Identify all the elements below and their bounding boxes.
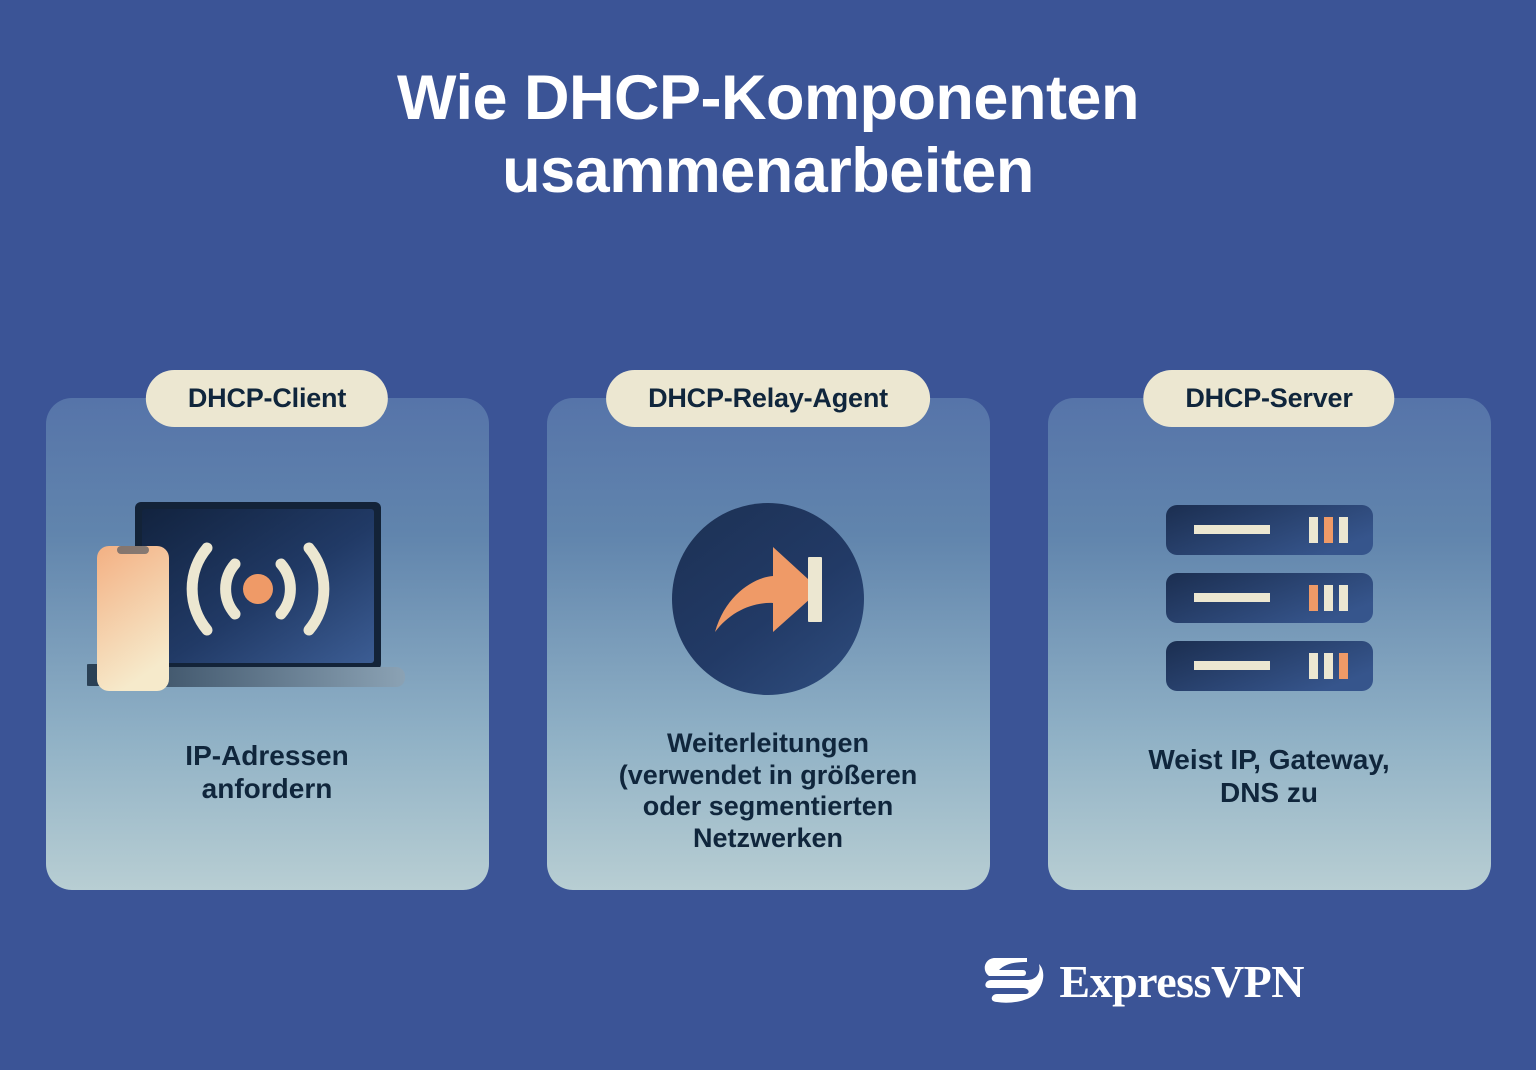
expressvpn-logo: ExpressVPN [983,954,1304,1008]
card-caption-dhcp-relay-agent: Weiterleitungen (verwendet in größeren o… [601,728,936,854]
card-dhcp-server: DHCP-Server [1048,398,1491,890]
page-title: Wie DHCP-Komponenten usammenarbeiten [0,62,1536,208]
expressvpn-e-mark-icon [983,954,1045,1008]
laptop-phone-wifi-illustration [46,494,489,704]
server-rack-illustration [1048,494,1491,704]
caption-line: DNS zu [1148,777,1389,810]
server-rack-icon [1162,499,1377,699]
caption-line: (verwendet in größeren [619,760,918,792]
caption-line: Weist IP, Gateway, [1148,744,1389,777]
card-caption-dhcp-server: Weist IP, Gateway, DNS zu [1130,744,1407,810]
forward-arrow-circle-icon [668,499,868,699]
card-heading-dhcp-client: DHCP-Client [146,370,388,427]
page-title-line-1: Wie DHCP-Komponenten [0,62,1536,135]
component-cards-row: DHCP-Client [0,398,1536,890]
card-caption-dhcp-client: IP-Adressen anfordern [167,740,366,806]
card-dhcp-client: DHCP-Client [46,398,489,890]
laptop-phone-wifi-icon [87,494,447,704]
page-title-line-2: usammenarbeiten [0,135,1536,208]
caption-line: oder segmentierten [619,791,918,823]
caption-line: anfordern [185,773,348,806]
caption-line: IP-Adressen [185,740,348,773]
forward-arrow-circle-illustration [547,494,990,704]
card-dhcp-relay-agent: DHCP-Relay-Agent Weiterleitungen [547,398,990,890]
card-heading-dhcp-server: DHCP-Server [1143,370,1394,427]
caption-line: Weiterleitungen [619,728,918,760]
caption-line: Netzwerken [619,823,918,855]
expressvpn-wordmark: ExpressVPN [1059,955,1304,1008]
card-heading-dhcp-relay-agent: DHCP-Relay-Agent [606,370,930,427]
